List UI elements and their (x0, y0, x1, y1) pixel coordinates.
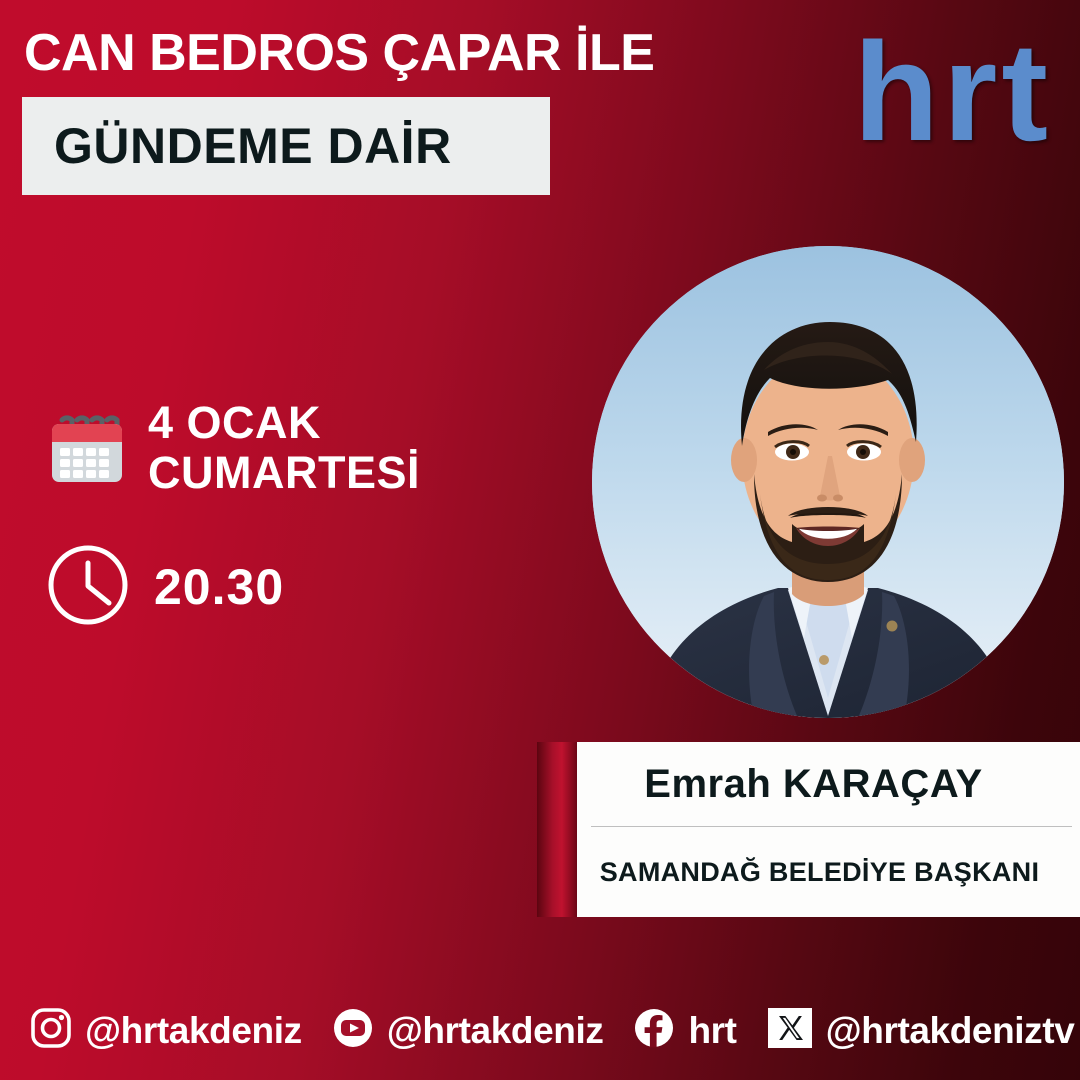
date-row: 4 OCAK CUMARTESİ (44, 398, 514, 499)
date-line-1: 4 OCAK (148, 397, 321, 448)
time-row: 20.30 (44, 541, 514, 634)
guest-name: Emrah KARAÇAY (577, 742, 1080, 826)
broadcast-promo-poster: CAN BEDROS ÇAPAR İLE GÜNDEME DAİR hrt (0, 0, 1080, 1080)
social-link-youtube[interactable]: @hrtakdeniz (332, 1007, 604, 1054)
social-handle-youtube: @hrtakdeniz (387, 1010, 604, 1052)
broadcast-time: 20.30 (154, 558, 284, 616)
guest-nameplate: Emrah KARAÇAY SAMANDAĞ BELEDİYE BAŞKANI (577, 742, 1080, 917)
guest-role: SAMANDAĞ BELEDİYE BAŞKANI (577, 827, 1080, 917)
calendar-icon (44, 404, 130, 495)
facebook-icon (633, 1007, 675, 1054)
schedule-block: 4 OCAK CUMARTESİ 20.30 (44, 398, 514, 634)
social-link-facebook[interactable]: hrt (633, 1007, 736, 1054)
date-line-2: CUMARTESİ (148, 447, 420, 498)
guest-portrait (592, 246, 1064, 718)
social-handle-instagram: @hrtakdeniz (85, 1010, 302, 1052)
social-handle-x-twitter: @hrtakdeniztv (826, 1010, 1075, 1052)
clock-icon (44, 541, 132, 634)
social-handle-facebook: hrt (688, 1010, 736, 1052)
social-link-instagram[interactable]: @hrtakdeniz (30, 1007, 302, 1054)
program-title: GÜNDEME DAİR (54, 117, 452, 175)
broadcast-date: 4 OCAK CUMARTESİ (148, 398, 420, 499)
instagram-icon (30, 1007, 72, 1054)
program-title-box: GÜNDEME DAİR (22, 97, 550, 195)
nameplate-accent-bar (537, 742, 577, 917)
hrt-logo: hrt (853, 22, 1052, 162)
social-link-x-twitter[interactable]: @hrtakdeniztv (767, 1007, 1075, 1054)
youtube-icon (332, 1007, 374, 1054)
x-twitter-icon (767, 1007, 813, 1054)
show-host-line: CAN BEDROS ÇAPAR İLE (24, 26, 654, 81)
social-links-bar: @hrtakdeniz @hrtakdeniz hrt (30, 1007, 1074, 1054)
